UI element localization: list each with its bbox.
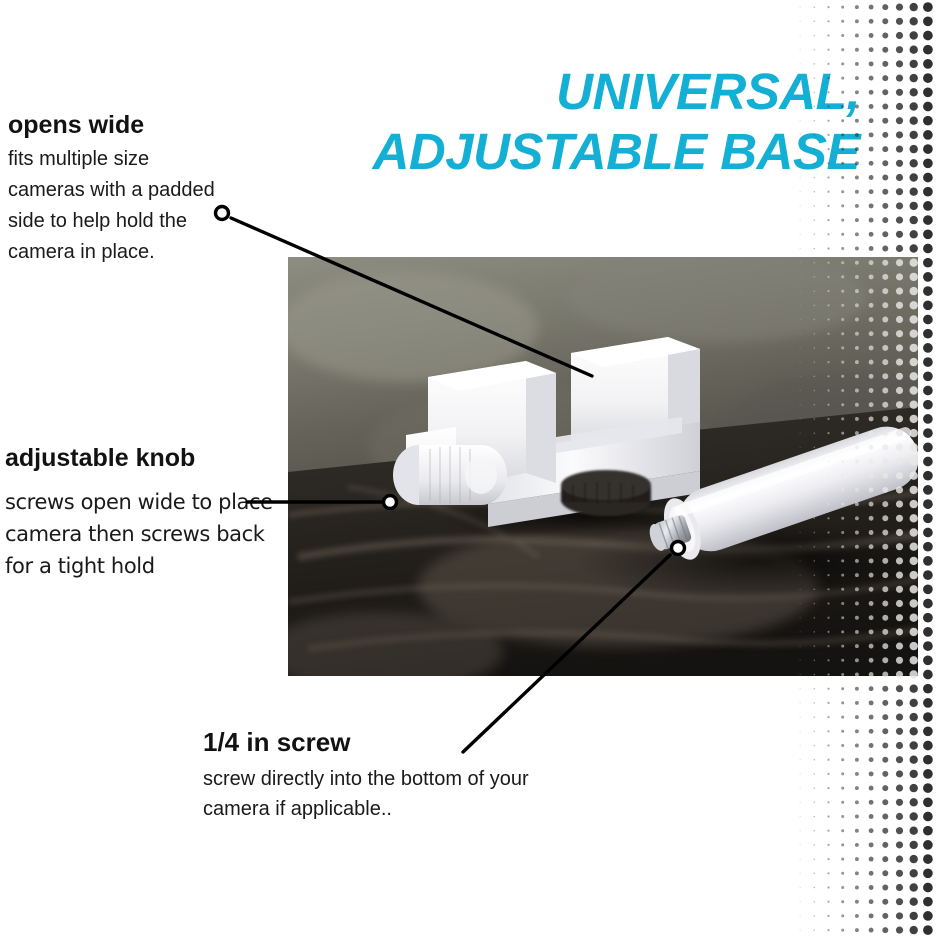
callout-adjustable-knob-body: screws open wide to place camera then sc…: [5, 486, 283, 582]
product-photo: [288, 257, 918, 676]
callout-quarter-inch-screw-heading: 1/4 in screw: [203, 726, 533, 758]
product-photo-illustration: [288, 257, 918, 676]
title-line-2: ADJUSTABLE BASE: [300, 122, 860, 182]
callout-quarter-inch-screw: 1/4 in screw screw directly into the bot…: [203, 726, 533, 824]
callout-opens-wide: opens wide fits multiple size cameras wi…: [8, 110, 226, 268]
callout-opens-wide-body: fits multiple size cameras with a padded…: [8, 144, 226, 268]
callout-quarter-inch-screw-body: screw directly into the bottom of your c…: [203, 764, 533, 824]
callout-adjustable-knob-heading: adjustable knob: [5, 442, 283, 474]
callout-adjustable-knob: adjustable knob screws open wide to plac…: [5, 442, 283, 582]
callout-opens-wide-heading: opens wide: [8, 110, 226, 140]
page-title: UNIVERSAL, ADJUSTABLE BASE: [300, 62, 860, 182]
title-line-1: UNIVERSAL,: [556, 63, 860, 120]
infographic-canvas: UNIVERSAL, ADJUSTABLE BASE opens wide fi…: [0, 0, 938, 938]
